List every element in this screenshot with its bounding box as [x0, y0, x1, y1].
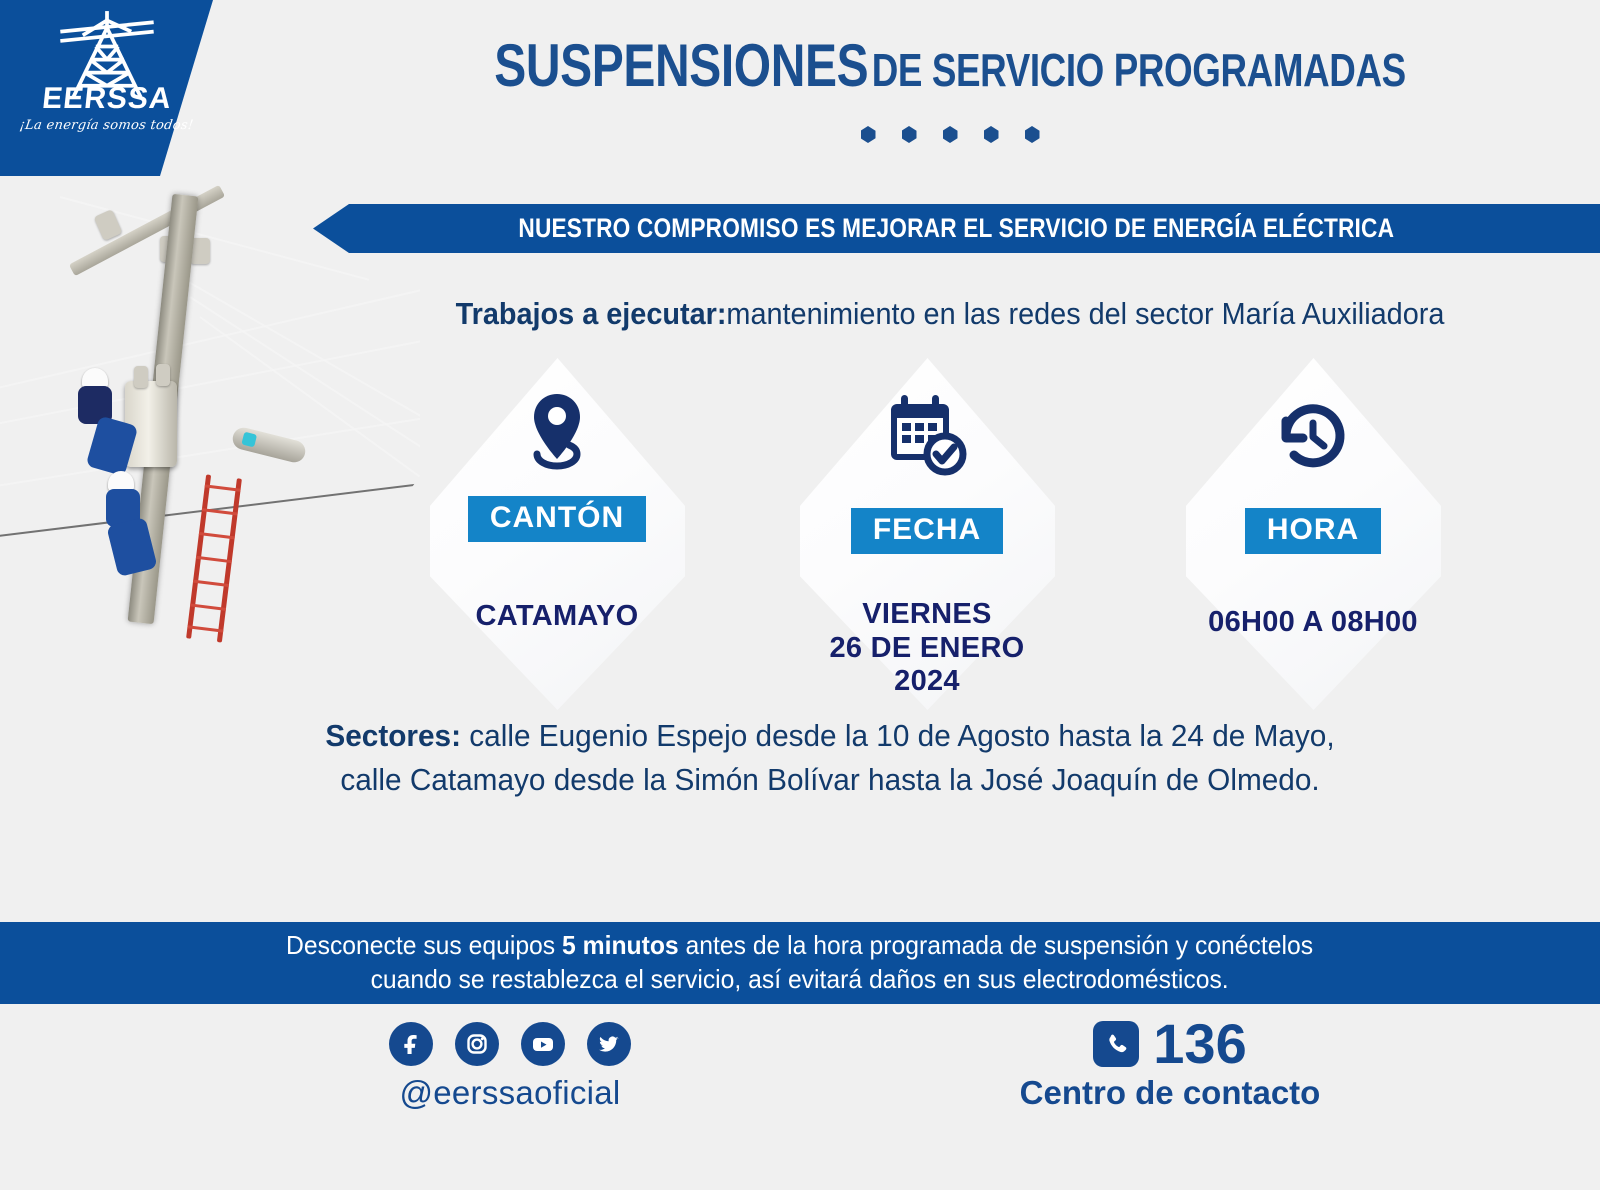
commitment-banner: NUESTRO COMPROMISO ES MEJORAR EL SERVICI… — [313, 204, 1600, 253]
calendar-check-icon — [883, 384, 971, 488]
transformer-bushing — [134, 366, 148, 388]
social-handle[interactable]: @eerssaoficial — [300, 1074, 720, 1112]
facebook-icon[interactable] — [389, 1022, 433, 1066]
sectors-label: Sectores: — [325, 718, 461, 753]
contact-number[interactable]: 136 — [1153, 1016, 1246, 1072]
title-rest: DE SERVICIO PROGRAMADAS — [872, 44, 1406, 96]
card-value-fecha: VIERNES 26 DE ENERO 2024 — [829, 598, 1024, 699]
pole-transformer — [125, 381, 177, 467]
divider-dot-icon — [902, 126, 917, 143]
commitment-banner-text: NUESTRO COMPROMISO ES MEJORAR EL SERVICI… — [519, 213, 1395, 244]
page-title: SUSPENSIONES DE SERVICIO PROGRAMADAS — [330, 36, 1570, 96]
divider-dot-icon — [943, 126, 958, 143]
works-label: Trabajos a ejecutar: — [456, 296, 727, 331]
warning-line-1: Desconecte sus equipos 5 minutos antes d… — [286, 929, 1313, 963]
youtube-icon[interactable] — [521, 1022, 565, 1066]
divider-dot-icon — [861, 126, 876, 143]
info-card-hora: HORA 06H00 A 08H00 — [1148, 358, 1478, 710]
title-strong: SUSPENSIONES — [494, 32, 868, 99]
sectors-line2: calle Catamayo desde la Simón Bolívar ha… — [225, 758, 1435, 802]
info-card-canton: CANTÓN CATAMAYO — [392, 358, 722, 710]
location-pin-icon — [520, 384, 594, 488]
sectors-line1: calle Eugenio Espejo desde la 10 de Agos… — [461, 718, 1335, 753]
info-cards: CANTÓN CATAMAYO — [380, 358, 1520, 710]
card-chip-hora: HORA — [1245, 508, 1381, 554]
divider-dot-icon — [984, 126, 999, 143]
card-chip-fecha: FECHA — [851, 508, 1003, 554]
works-value: mantenimiento en las redes del sector Ma… — [726, 296, 1444, 331]
warning-text-bold: 5 minutos — [562, 930, 679, 960]
social-block: @eerssaoficial — [300, 1022, 720, 1112]
twitter-icon[interactable] — [587, 1022, 631, 1066]
contact-row: 136 — [960, 1016, 1380, 1072]
card-chip-canton: CANTÓN — [468, 496, 646, 542]
title-divider-dots — [330, 126, 1570, 143]
card-value-hora: 06H00 A 08H00 — [1208, 606, 1418, 640]
footer: @eerssaoficial 136 Centro de contacto — [0, 1004, 1600, 1144]
sectors-block: Sectores: calle Eugenio Espejo desde la … — [225, 714, 1435, 802]
warning-banner: Desconecte sus equipos 5 minutos antes d… — [0, 922, 1600, 1004]
warning-line-2: cuando se restablezca el servicio, así e… — [371, 963, 1229, 997]
contact-label: Centro de contacto — [960, 1074, 1380, 1112]
contact-block: 136 Centro de contacto — [960, 1016, 1380, 1112]
info-card-fecha: FECHA VIERNES 26 DE ENERO 2024 — [762, 358, 1092, 710]
social-row — [300, 1022, 720, 1066]
instagram-icon[interactable] — [455, 1022, 499, 1066]
phone-icon — [1093, 1021, 1139, 1067]
lineworker-lower — [106, 471, 152, 573]
transformer-bushing — [156, 364, 170, 386]
lineworker-upper — [78, 368, 132, 472]
warning-text-c: antes de la hora programada de suspensió… — [679, 930, 1313, 960]
logo-background-shape — [0, 0, 213, 176]
card-value-canton: CATAMAYO — [476, 600, 639, 634]
poster-canvas: EERSSA ¡La energía somos todos! SUSPENSI… — [0, 0, 1600, 1190]
warning-text-a: Desconecte sus equipos — [286, 930, 562, 960]
clock-rotate-icon — [1270, 384, 1356, 488]
works-line: Trabajos a ejecutar:mantenimiento en las… — [373, 296, 1526, 332]
divider-dot-icon — [1025, 126, 1040, 143]
